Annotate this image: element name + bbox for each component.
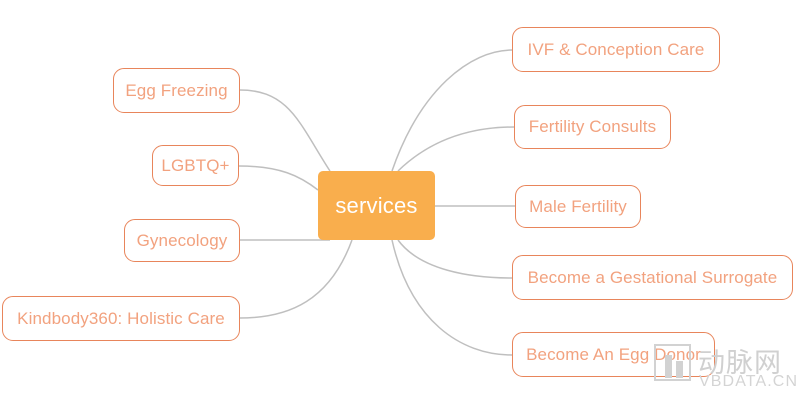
connector-lgbtq — [239, 166, 318, 190]
mindmap-canvas: services Egg Freezing LGBTQ+ Gynecology … — [0, 0, 796, 401]
branch-node-egg-freezing[interactable]: Egg Freezing — [113, 68, 240, 113]
branch-node-label: Egg Freezing — [125, 81, 227, 101]
connector-egg-freezing — [240, 90, 330, 171]
branch-node-label: Become a Gestational Surrogate — [528, 268, 778, 288]
branch-node-gestational-surrogate[interactable]: Become a Gestational Surrogate — [512, 255, 793, 300]
branch-node-label: Kindbody360: Holistic Care — [17, 309, 225, 329]
connector-ivf — [392, 50, 512, 171]
branch-node-label: Fertility Consults — [529, 117, 656, 137]
branch-node-gynecology[interactable]: Gynecology — [124, 219, 240, 262]
connector-egg-donor — [392, 240, 512, 355]
branch-node-label: IVF & Conception Care — [528, 40, 705, 60]
branch-node-kindbody360[interactable]: Kindbody360: Holistic Care — [2, 296, 240, 341]
branch-node-label: Become An Egg Donor — [526, 345, 701, 365]
branch-node-label: Male Fertility — [529, 197, 627, 217]
connector-kindbody360 — [240, 240, 352, 318]
center-node-services[interactable]: services — [318, 171, 435, 240]
branch-node-label: LGBTQ+ — [161, 156, 229, 176]
branch-node-label: Gynecology — [137, 231, 228, 251]
connector-surrogate — [398, 240, 512, 278]
center-node-label: services — [335, 193, 417, 219]
branch-node-egg-donor[interactable]: Become An Egg Donor — [512, 332, 715, 377]
connector-fertility-consults — [398, 127, 514, 171]
branch-node-fertility-consults[interactable]: Fertility Consults — [514, 105, 671, 149]
branch-node-male-fertility[interactable]: Male Fertility — [515, 185, 641, 228]
branch-node-ivf-conception-care[interactable]: IVF & Conception Care — [512, 27, 720, 72]
branch-node-lgbtq[interactable]: LGBTQ+ — [152, 145, 239, 186]
